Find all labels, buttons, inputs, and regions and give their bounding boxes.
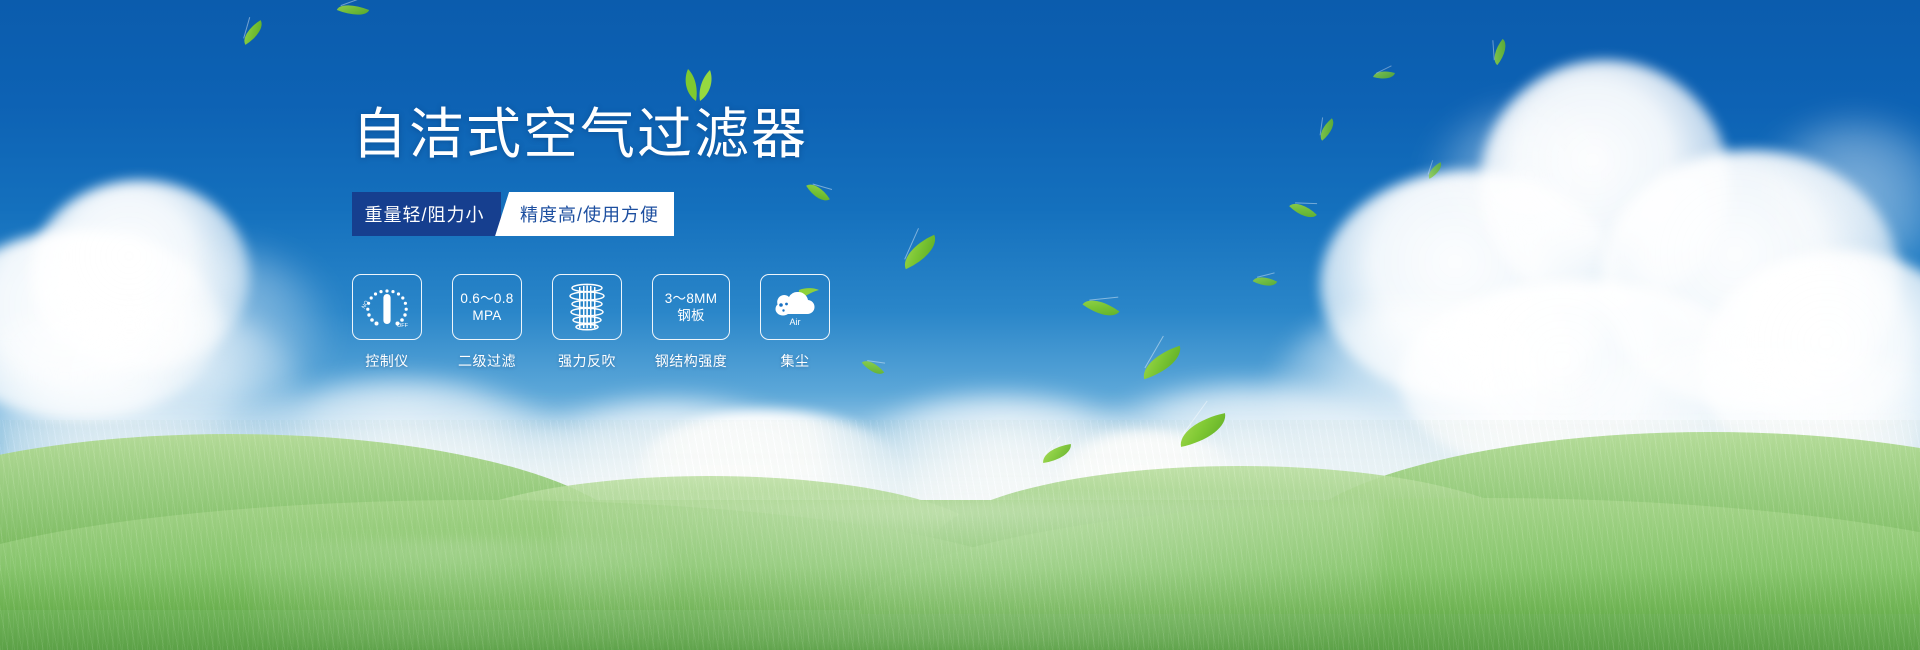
feature-icon-box: Air [760, 274, 830, 340]
feature-item: 3～8MM 钢板 钢结构强度 [652, 274, 730, 371]
grass-field [0, 420, 1920, 650]
tagline-group: 重量轻/阻力小 精度高/使用方便 [352, 192, 674, 236]
feature-label: 控制仪 [352, 351, 422, 371]
feature-label: 钢结构强度 [652, 351, 730, 371]
grass-path [250, 540, 670, 650]
air-cloud-icon: Air [769, 287, 821, 327]
feature-item: 0.6～0.8 MPA 二级过滤 [452, 274, 522, 371]
feature-label: 二级过滤 [452, 351, 522, 371]
cloud-shape [120, 250, 330, 400]
control-dial-icon: NO OFF [361, 284, 413, 330]
page-title: 自洁式空气过滤器 [352, 96, 1072, 172]
feature-label: 集尘 [760, 351, 830, 371]
leaf-sprout-icon [676, 68, 722, 102]
air-label: Air [790, 317, 801, 327]
feature-icon-box: NO OFF [352, 274, 422, 340]
steel-plate-text-icon: 3～8MM [665, 290, 718, 307]
feature-list: NO OFF 控制仪 0.6～0.8 MPA 二级过滤 [352, 274, 1072, 371]
filter-cartridge-icon [564, 282, 610, 332]
feature-item: 强力反吹 [552, 274, 622, 371]
feature-item: NO OFF 控制仪 [352, 274, 422, 371]
banner-content: 自洁式空气过滤器 重量轻/阻力小 精度高/使用方便 [352, 96, 1072, 371]
grass-path [560, 500, 1380, 650]
title-row: 自洁式空气过滤器 [352, 96, 1072, 172]
feature-icon-box [552, 274, 622, 340]
feature-icon-box: 3～8MM 钢板 [652, 274, 730, 340]
tagline-secondary: 精度高/使用方便 [495, 192, 674, 236]
cloud-shape [1430, 110, 1630, 240]
feature-label: 强力反吹 [552, 351, 622, 371]
feature-item: Air 集尘 [760, 274, 830, 371]
feature-icon-box: 0.6～0.8 MPA [452, 274, 522, 340]
product-banner: 自洁式空气过滤器 重量轻/阻力小 精度高/使用方便 [0, 0, 1920, 650]
tagline-primary: 重量轻/阻力小 [352, 192, 501, 236]
svg-text:OFF: OFF [397, 323, 409, 329]
steel-plate-unit-text: 钢板 [677, 307, 705, 324]
pressure-unit-text: MPA [472, 307, 501, 324]
pressure-text-icon: 0.6～0.8 [460, 290, 513, 307]
svg-text:NO: NO [361, 299, 371, 310]
